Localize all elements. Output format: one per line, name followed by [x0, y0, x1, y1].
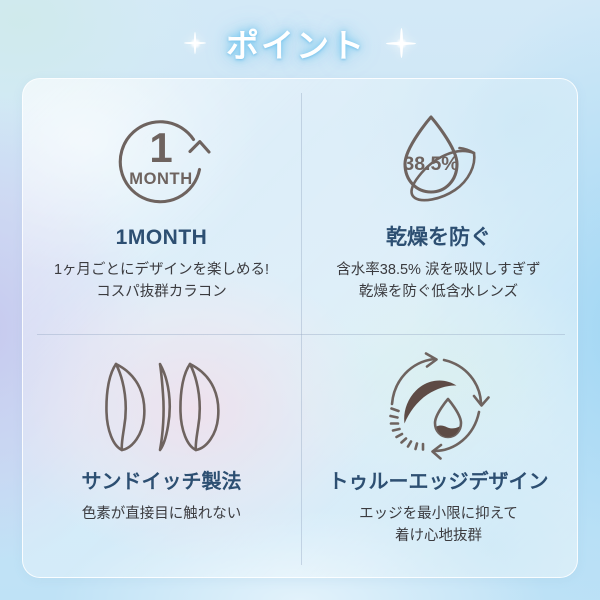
icon-label-unit: MONTH: [129, 170, 193, 188]
feature-description: 含水率38.5% 涙を吸収しすぎず 乾燥を防ぐ低含水レンズ: [336, 259, 540, 303]
feature-description: エッジを最小限に抑えて 着け心地抜群: [359, 503, 518, 547]
features-grid: 1 MONTH 1MONTH 1ヶ月ごとにデザインを楽しめる! コスパ抜群カラコ…: [23, 79, 577, 577]
feature-title: 乾燥を防ぐ: [386, 225, 491, 250]
sparkle-icon: [386, 28, 416, 58]
feature-item-prevent-dryness: 38.5% 乾燥を防ぐ 含水率38.5% 涙を吸収しすぎず 乾燥を防ぐ低含水レン…: [300, 79, 577, 328]
feature-item-sandwich-construction: サンドイッチ製法 色素が直接目に触れない: [23, 328, 300, 577]
page-title: ポイント: [226, 19, 366, 67]
poster-root: ポイント 1 MONTH: [0, 0, 600, 600]
feature-description: 1ヶ月ごとにデザインを楽しめる! コスパ抜群カラコン: [54, 259, 269, 303]
eye-droplet-cycle-icon: [378, 342, 500, 470]
icon-label-percent: 38.5%: [403, 153, 458, 175]
feature-item-true-edge-design: トゥルーエッジデザイン エッジを最小限に抑えて 着け心地抜群: [300, 328, 577, 577]
icon-label-number: 1: [149, 124, 172, 171]
feature-item-one-month: 1 MONTH 1MONTH 1ヶ月ごとにデザインを楽しめる! コスパ抜群カラコ…: [23, 79, 300, 328]
feature-title: トゥルーエッジデザイン: [329, 470, 549, 494]
page-heading: ポイント: [0, 14, 600, 72]
cycle-arrow-one-month-icon: 1 MONTH: [108, 97, 216, 225]
feature-title: 1MONTH: [116, 225, 208, 250]
feature-description: 色素が直接目に触れない: [82, 503, 242, 525]
sparkle-icon: [184, 32, 206, 54]
sandwich-lens-layers-icon: [100, 342, 224, 470]
features-card: 1 MONTH 1MONTH 1ヶ月ごとにデザインを楽しめる! コスパ抜群カラコ…: [22, 78, 578, 578]
feature-title: サンドイッチ製法: [82, 470, 242, 494]
water-droplet-lens-icon: 38.5%: [383, 97, 495, 225]
